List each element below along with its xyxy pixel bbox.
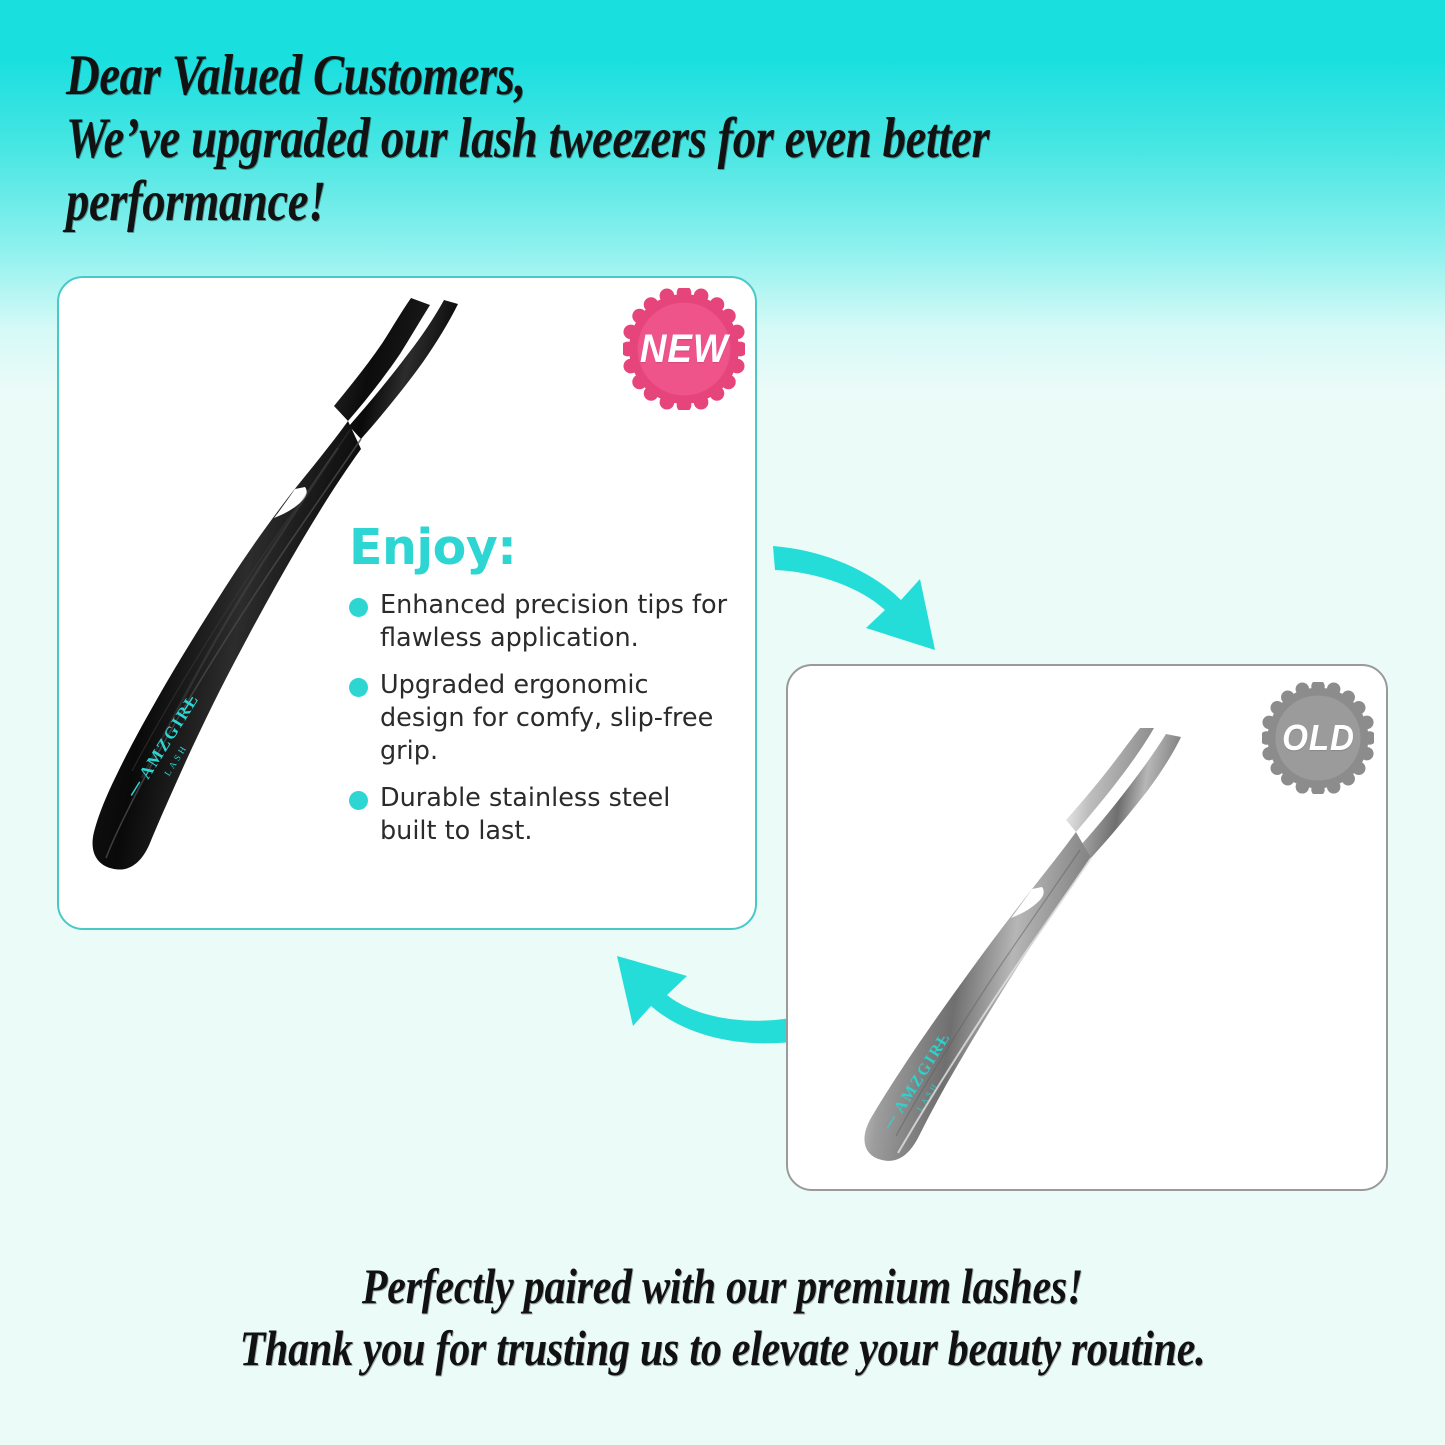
arrow-up-left-icon	[595, 950, 800, 1065]
footer-line-1: Perfectly paired with our premium lashes…	[116, 1255, 1330, 1317]
bullet-dot-icon	[349, 598, 368, 617]
headline-line-2: We’ve upgraded our lash tweezers for eve…	[66, 107, 1148, 170]
old-tweezer-image: AMZGIRL LASH	[840, 700, 1220, 1180]
footer-message: Perfectly paired with our premium lashes…	[0, 1255, 1445, 1379]
headline-line-1: Dear Valued Customers,	[66, 44, 1148, 107]
headline-line-3: performance!	[66, 170, 1148, 233]
list-item: Upgraded ergonomic design for comfy, sli…	[349, 669, 749, 768]
new-badge-label: NEW	[640, 327, 729, 372]
promo-banner: Dear Valued Customers, We’ve upgraded ou…	[0, 0, 1445, 1445]
footer-line-2: Thank you for trusting us to elevate you…	[116, 1317, 1330, 1379]
list-item: Durable stainless steel built to last.	[349, 782, 749, 848]
enjoy-heading: Enjoy:	[349, 521, 749, 575]
bullet-text: Upgraded ergonomic design for comfy, sli…	[380, 669, 732, 768]
page-title: Dear Valued Customers, We’ve upgraded ou…	[66, 44, 1386, 233]
bullet-dot-icon	[349, 791, 368, 810]
old-badge-label: OLD	[1282, 717, 1355, 759]
list-item: Enhanced precision tips for flawless app…	[349, 589, 749, 655]
bullet-text: Durable stainless steel built to last.	[380, 782, 732, 848]
old-badge: OLD	[1262, 682, 1374, 794]
new-badge: NEW	[623, 288, 745, 410]
bullet-dot-icon	[349, 678, 368, 697]
bullet-text: Enhanced precision tips for flawless app…	[380, 589, 732, 655]
arrow-down-right-icon	[765, 532, 970, 657]
enjoy-feature-list: Enjoy: Enhanced precision tips for flawl…	[349, 521, 749, 862]
